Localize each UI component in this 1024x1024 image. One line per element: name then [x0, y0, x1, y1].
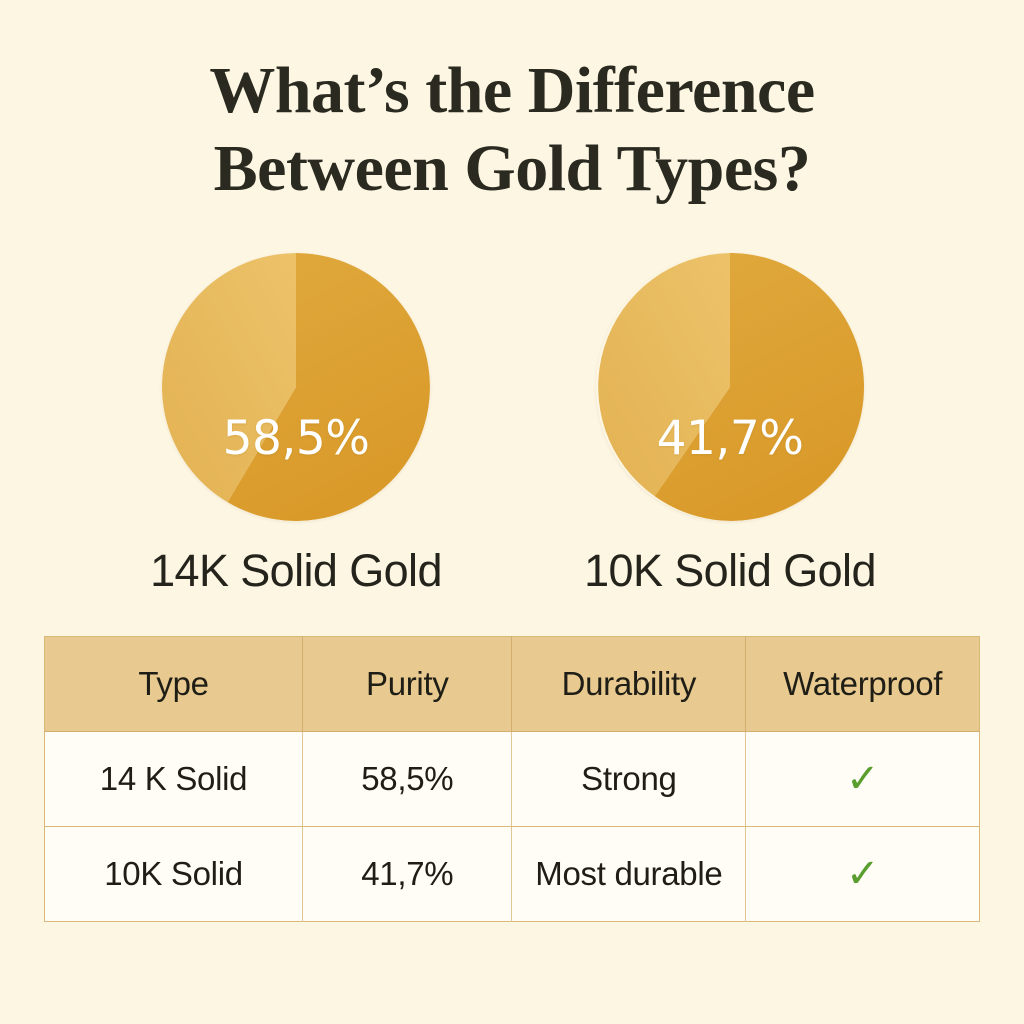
check-icon: ✓ — [846, 759, 879, 799]
gold-comparison-table: Type Purity Durability Waterproof 14 K S… — [44, 636, 980, 922]
cell-waterproof: ✓ — [746, 732, 980, 827]
cell-type: 14 K Solid — [45, 732, 303, 827]
table-row: 10K Solid 41,7% Most durable ✓ — [45, 827, 980, 922]
table-header-row: Type Purity Durability Waterproof — [45, 637, 980, 732]
gold-types-infographic: What’s the Difference Between Gold Types… — [0, 0, 1024, 1024]
cell-type: 10K Solid — [45, 827, 303, 922]
pie-10k-svg — [596, 253, 864, 521]
table-row: 14 K Solid 58,5% Strong ✓ — [45, 732, 980, 827]
pie-chart-14k-value: 58,5% — [146, 411, 446, 466]
pie-chart-14k-caption: 14K Solid Gold — [106, 545, 486, 597]
pie-chart-10k-value: 41,7% — [580, 411, 880, 466]
cell-durability: Strong — [512, 732, 746, 827]
column-header-purity: Purity — [303, 637, 512, 732]
column-header-durability: Durability — [512, 637, 746, 732]
pie-chart-14k-graphic — [162, 253, 430, 521]
pie-chart-10k-graphic — [596, 253, 864, 521]
cell-purity: 41,7% — [303, 827, 512, 922]
pie-chart-14k: 58,5% 14K Solid Gold — [146, 253, 446, 533]
page-title: What’s the Difference Between Gold Types… — [0, 52, 1024, 208]
pie-chart-10k: 41,7% 10K Solid Gold — [580, 253, 880, 533]
cell-purity: 58,5% — [303, 732, 512, 827]
pie-chart-row: 58,5% 14K Solid Gold — [0, 253, 1024, 533]
column-header-type: Type — [45, 637, 303, 732]
page-title-line-1: What’s the Difference — [0, 52, 1024, 130]
cell-waterproof: ✓ — [746, 827, 980, 922]
check-icon: ✓ — [846, 854, 879, 894]
pie-14k-svg — [162, 253, 430, 521]
cell-durability: Most durable — [512, 827, 746, 922]
pie-chart-10k-caption: 10K Solid Gold — [540, 545, 920, 597]
page-title-line-2: Between Gold Types? — [0, 130, 1024, 208]
column-header-waterproof: Waterproof — [746, 637, 980, 732]
